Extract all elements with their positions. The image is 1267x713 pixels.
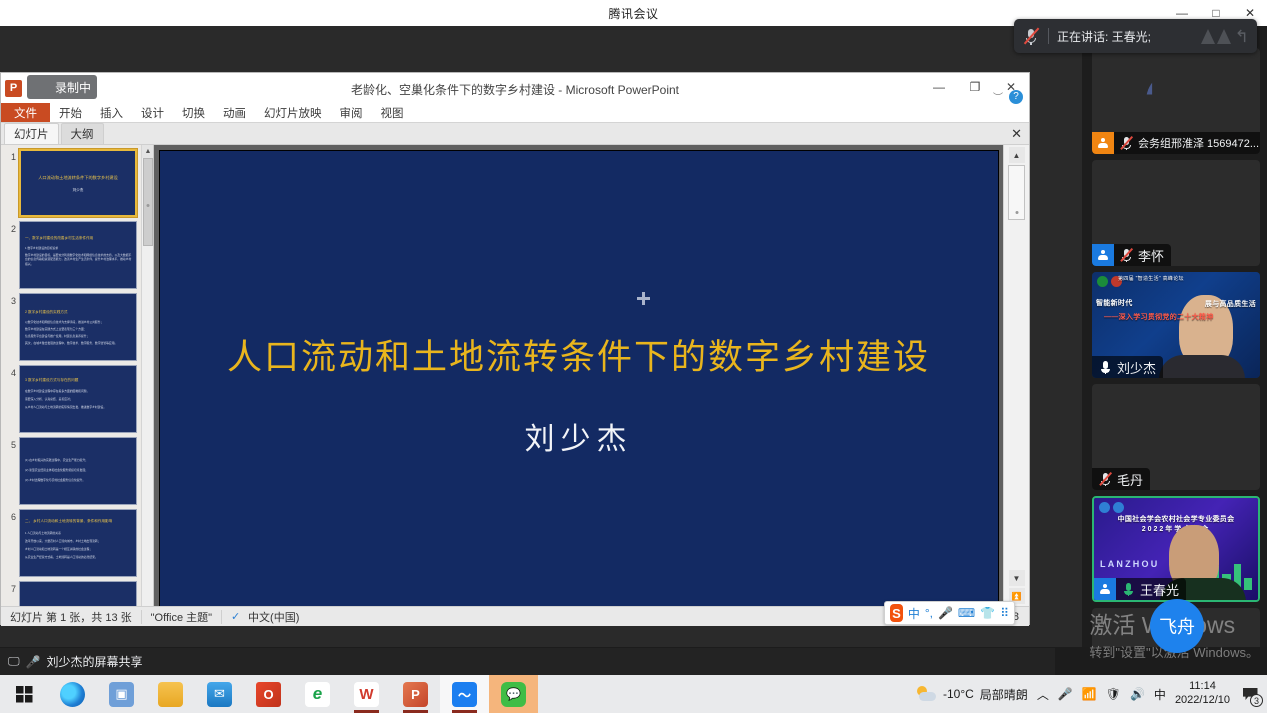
pane-tab-slides[interactable]: 幻灯片 <box>4 123 59 144</box>
thumbnail-slide-4[interactable]: 3 数字乡村建设方式与存在的问题 在数字乡村建设过程中存在着多方面的困难和问题，… <box>19 365 137 433</box>
thumb-title: 二、 乡村人口流动和土地流转的背景、条件和作用影响 <box>25 519 132 524</box>
office-icon: O <box>256 682 281 707</box>
thumb-title: 一、数字乡村建设的改善乡村生活条件作用 <box>25 236 132 241</box>
notification-count: 3 <box>1250 694 1263 707</box>
speaking-label: 正在讲话: 王春光; <box>1057 28 1151 45</box>
thumb-title: 3 数字乡村建设方式与存在的问题 <box>25 378 132 383</box>
powerpoint-window[interactable]: P 💾 ↶ ↷ ▾ 录制中 老龄化、空巢化条件下的数字乡村建设 - Micros… <box>0 72 1030 625</box>
thumb-line: (2) 新型农业经营主体和社会化服务组织培育发展； <box>25 468 132 472</box>
thumb-line: 1 数字乡村建设的目标追求 <box>25 246 132 250</box>
close-pane-icon[interactable]: ✕ <box>1011 126 1022 142</box>
ribbon-tab-insert[interactable]: 插入 <box>91 103 132 122</box>
wps-icon: W <box>354 682 379 707</box>
screen-share-bar: 🖵 🎤 刘少杰的屏幕共享 <box>0 648 1055 675</box>
slide-editing-area[interactable]: 人口流动和土地流转条件下的数字乡村建设 刘少杰 <box>154 145 1003 626</box>
participant-namebar: 李怀 <box>1092 244 1171 266</box>
skin-icon[interactable]: 👕 <box>980 606 995 620</box>
thumb-line: 乡村人口流动和土地流转是一个相互关联的社会过程； <box>25 547 132 551</box>
participant-badge-icon <box>1092 244 1114 266</box>
video-brand-text: LANZHOU <box>1100 559 1159 569</box>
thumb-line: 从农业生产经营方式看，土地流转是人口流动的必然结果。 <box>25 555 132 559</box>
person-body <box>1159 355 1245 378</box>
video-sub-text: ——深入学习贯彻党的二十大精神 <box>1104 312 1256 322</box>
show-hidden-icons-chevron[interactable]: ︿ <box>1037 686 1049 703</box>
thumb-line: 数字乡村建设在实践方式上主要表现为三个方面： <box>25 327 132 331</box>
participant-tile[interactable]: 第四届 "智造生活" 高峰论坛 智能新时代 展与高品质生活 ——深入学习贯彻党的… <box>1092 272 1260 378</box>
weather-widget[interactable]: -10°C 局部晴朗 <box>916 686 1028 703</box>
thumbnail-item[interactable]: 1 人口流动和土地流转条件下的数字乡村建设 刘少杰 <box>1 145 153 217</box>
taskbar-item-task-view[interactable]: ▣ <box>97 675 146 713</box>
taskbar-item-office[interactable]: O <box>244 675 293 713</box>
thumb-line: 改革开放以来，大量农村人口流向城市，乡村土地出现流转； <box>25 539 132 543</box>
thumb-line: (1) 在乡村振兴的实践过程中，农业生产能力提升； <box>25 458 132 462</box>
powerpoint-icon: P <box>403 682 428 707</box>
theme-status[interactable]: "Office 主题" <box>142 610 222 624</box>
scrollbar-thumb[interactable] <box>143 158 153 246</box>
host-badge-icon <box>1092 132 1114 154</box>
slide-vertical-scrollbar[interactable]: ▲ ▼ ⏫ ⏬ <box>1003 145 1029 626</box>
ime-indicator[interactable]: 中 <box>1154 686 1166 703</box>
participant-namebar: 会务组邢淮泽 1569472... <box>1092 132 1260 154</box>
speaking-toast: 正在讲话: 王春光; ↰ <box>1014 19 1257 53</box>
thumbnail-item[interactable]: 4 3 数字乡村建设方式与存在的问题 在数字乡村建设过程中存在着多方面的困难和问… <box>1 361 153 433</box>
weather-temperature: -10°C <box>943 687 974 701</box>
video-headline2-text: 展与高品质生活 <box>1205 299 1256 309</box>
participant-name: 王春光 <box>1140 580 1179 599</box>
slide-subtitle-text[interactable]: 刘少杰 <box>160 414 998 458</box>
meeting-title: 腾讯会议 <box>608 5 658 22</box>
participant-tile[interactable]: 李怀 <box>1092 160 1260 266</box>
weather-icon <box>916 686 937 702</box>
thumb-line: (3) 乡村治理数字化与农村社会服务信息化提升。 <box>25 478 132 482</box>
toast-divider <box>1048 28 1049 44</box>
thumb-line: 从乡村人口流动与土地流转的实际情况出发，推进数字乡村建设。 <box>25 405 132 409</box>
participant-tile[interactable]: 毛丹 <box>1092 384 1260 490</box>
powerpoint-app-icon: P <box>5 80 22 97</box>
taskbar-item-powerpoint[interactable]: P <box>391 675 440 713</box>
thumb-title: 人口流动和土地流转条件下的数字乡村建设 <box>21 175 135 181</box>
thumbnail-number: 7 <box>3 581 16 594</box>
internet-explorer-icon: e <box>305 682 330 707</box>
scrollbar-thumb[interactable] <box>1008 165 1025 220</box>
avatar <box>1146 407 1206 467</box>
ribbon-tab-design[interactable]: 设计 <box>132 103 173 122</box>
microphone-icon <box>1098 360 1113 375</box>
slide-pane-header: 幻灯片 大纲 ✕ <box>1 123 1029 145</box>
scroll-up-icon[interactable]: ▲ <box>1009 147 1025 163</box>
thumbnail-item[interactable]: 5 (1) 在乡村振兴的实践过程中，农业生产能力提升； (2) 新型农业经营主体… <box>1 433 153 505</box>
thumb-title: 2 数字乡村建设的实践方式 <box>25 310 132 315</box>
share-label: 刘少杰的屏幕共享 <box>47 653 143 670</box>
thumb-line: 其次，在城乡融合发展的过程中，数字技术、数字服务、数字监管等应用。 <box>25 341 132 345</box>
clock-time: 11:14 <box>1175 680 1230 694</box>
video-headline-text: 智能新时代 <box>1096 298 1133 308</box>
spellcheck-icon: ✓ <box>231 610 244 623</box>
slide-title-text[interactable]: 人口流动和土地流转条件下的数字乡村建设 <box>160 329 998 380</box>
participant-namebar: 王春光 <box>1094 578 1186 600</box>
ribbon-help-row: ︶ ? <box>993 89 1023 104</box>
participant-tile[interactable]: 会务组邢淮泽 1569472... <box>1092 48 1260 154</box>
notification-center-button[interactable]: 3 <box>1239 683 1261 705</box>
thumbnail-number: 3 <box>3 293 16 306</box>
taskbar-item-tencent-meeting[interactable]: 〜 <box>440 675 489 713</box>
participant-tile-active-speaker[interactable]: 中国社会学会农村社会学专业委员会 2022年学术年会 LANZHOU 王春光 <box>1092 496 1260 602</box>
scroll-down-icon[interactable]: ▼ <box>1009 570 1025 586</box>
wave-triangle-icon <box>1201 29 1215 44</box>
task-view-icon: ▣ <box>109 682 134 707</box>
thumbnail-number: 6 <box>3 509 16 522</box>
taskbar-item-wps[interactable]: W <box>342 675 391 713</box>
video-banner-text: 第四届 "智造生活" 高峰论坛 <box>1118 275 1260 282</box>
windows-logo-icon <box>16 686 33 703</box>
thumbnail-slide-6[interactable]: 二、 乡村人口流动和土地流转的背景、条件和作用影响 1 人口流动与土地流转的关系… <box>19 509 137 577</box>
participant-name: 毛丹 <box>1117 470 1143 489</box>
pane-tab-outline[interactable]: 大纲 <box>61 123 104 144</box>
thumbnail-item[interactable]: 2 一、数字乡村建设的改善乡村生活条件作用 1 数字乡村建设的目标追求 数字乡村… <box>1 217 153 289</box>
powerpoint-titlebar: P 💾 ↶ ↷ ▾ 录制中 老龄化、空巢化条件下的数字乡村建设 - Micros… <box>1 73 1029 103</box>
start-button[interactable] <box>0 675 48 713</box>
folder-icon <box>158 682 183 707</box>
slide-count-status: 幻灯片 第 1 张，共 13 张 <box>1 610 142 624</box>
ppt-minimize-button[interactable]: — <box>921 73 957 101</box>
ime-mode-chinese[interactable]: 中 <box>908 605 920 622</box>
mic-muted-icon <box>1022 27 1040 45</box>
microphone-icon[interactable]: 🎤 <box>938 606 953 620</box>
toolbox-icon[interactable]: ⠿ <box>1000 606 1009 620</box>
wifi-icon[interactable]: 📶 <box>1082 687 1097 701</box>
thumb-line: 以数字化技术和网络信息技术为支撑手段，推进乡村公共服务； <box>25 320 132 324</box>
thumbnail-number: 2 <box>3 221 16 234</box>
microphone-icon[interactable]: 🎤 <box>1058 687 1073 701</box>
wave-triangle-icon <box>1217 29 1231 44</box>
sogou-logo-icon[interactable]: S <box>890 604 903 622</box>
participant-name: 李怀 <box>1138 246 1164 265</box>
document-title: 老龄化、空巢化条件下的数字乡村建设 - Microsoft PowerPoint <box>1 81 1029 98</box>
mic-muted-icon <box>1119 248 1134 263</box>
clock-date: 2022/12/10 <box>1175 694 1230 708</box>
thumbnail-slide-1[interactable]: 人口流动和土地流转条件下的数字乡村建设 刘少杰 <box>19 149 137 217</box>
ribbon-tab-slideshow[interactable]: 幻灯片放映 <box>255 103 331 122</box>
thumbnail-slide-5[interactable]: (1) 在乡村振兴的实践过程中，农业生产能力提升； (2) 新型农业经营主体和社… <box>19 437 137 505</box>
participant-badge-icon <box>1094 578 1116 600</box>
avatar-circle: 飞舟 <box>1150 599 1204 653</box>
thumb-line: 1 人口流动与土地流转的关系 <box>25 531 132 535</box>
help-icon[interactable]: ? <box>1009 90 1023 104</box>
mail-icon: ✉ <box>207 682 232 707</box>
microphone-icon[interactable]: 🎤 <box>26 655 41 669</box>
mic-muted-icon <box>1098 472 1113 487</box>
taskbar-item-wechat[interactable]: 💬 <box>489 675 538 713</box>
windows-taskbar[interactable]: ▣ ✉ O e W P 〜 💬 -10°C 局部晴朗 ︿ 🎤 📶 🛡 🔊 中 1… <box>0 675 1267 713</box>
monitor-icon: 🖵 <box>8 654 20 669</box>
ribbon-tab-file[interactable]: 文件 <box>1 103 50 122</box>
current-slide[interactable]: 人口流动和土地流转条件下的数字乡村建设 刘少杰 <box>159 150 999 621</box>
ribbon-tab-animations[interactable]: 动画 <box>214 103 255 122</box>
recording-label: 录制中 <box>55 79 91 96</box>
thumb-line: 数字乡村建设的目标，是要充分利用数字化技术和网络信息技术的支持，以及大数据平台的… <box>25 253 132 266</box>
system-tray[interactable]: -10°C 局部晴朗 ︿ 🎤 📶 🛡 🔊 中 11:14 2022/12/10 … <box>916 675 1267 713</box>
keyboard-icon[interactable]: ⌨ <box>958 606 975 620</box>
thumbnail-item[interactable]: 3 2 数字乡村建设的实践方式 以数字化技术和网络信息技术为支撑手段，推进乡村公… <box>1 289 153 361</box>
thumbnail-number: 5 <box>3 437 16 450</box>
ribbon-tab-review[interactable]: 审阅 <box>331 103 372 122</box>
thumbnail-item[interactable]: 6 二、 乡村人口流动和土地流转的背景、条件和作用影响 1 人口流动与土地流转的… <box>1 505 153 577</box>
thumb-line: 信息服务平台建设与推广使用，村民信息素养提升； <box>25 334 132 338</box>
powerpoint-status-bar: 幻灯片 第 1 张，共 13 张 "Office 主题" ✓ 中文(中国) ▤ … <box>1 606 1029 626</box>
language-label: 中文(中国) <box>248 609 299 625</box>
video-line1-text: 中国社会学会农村社会学专业委员会 <box>1094 514 1258 524</box>
thumbnail-number: 1 <box>3 149 16 162</box>
mic-muted-icon <box>1119 136 1134 151</box>
thumbnail-slide-2[interactable]: 一、数字乡村建设的改善乡村生活条件作用 1 数字乡村建设的目标追求 数字乡村建设… <box>19 221 137 289</box>
taskbar-item-mail[interactable]: ✉ <box>195 675 244 713</box>
powerpoint-main-area: 1 人口流动和土地流转条件下的数字乡村建设 刘少杰 2 一、数字乡村建设的改善乡… <box>1 145 1029 626</box>
ime-punctuation-icon[interactable]: °, <box>925 606 933 620</box>
participant-name: 会务组邢淮泽 1569472... <box>1138 135 1259 151</box>
clock[interactable]: 11:14 2022/12/10 <box>1175 680 1230 708</box>
sogou-ime-toolbar[interactable]: S 中 °, 🎤 ⌨ 👕 ⠿ <box>884 601 1015 625</box>
tencent-meeting-icon: 〜 <box>452 682 477 707</box>
wechat-icon: 💬 <box>501 682 526 707</box>
edge-icon <box>60 682 85 707</box>
mouse-cursor <box>637 292 650 305</box>
avatar <box>1146 71 1206 131</box>
weather-description: 局部晴朗 <box>980 686 1028 703</box>
thumbnail-scrollbar[interactable]: ▲ <box>141 145 153 626</box>
participant-name: 刘少杰 <box>1117 358 1156 377</box>
thumb-subtitle: 刘少杰 <box>21 188 135 193</box>
ribbon-tabs[interactable]: 文件 开始 插入 设计 切换 动画 幻灯片放映 审阅 视图 <box>1 103 1029 123</box>
ribbon-tab-view[interactable]: 视图 <box>372 103 413 122</box>
thumb-line: 需要深入分析、认真总结、妥善应对； <box>25 397 132 401</box>
volume-icon[interactable]: 🔊 <box>1130 687 1145 701</box>
toast-wave-icons: ↰ <box>1201 28 1249 45</box>
video-logo-icons <box>1099 502 1124 513</box>
taskbar-item-file-explorer[interactable] <box>146 675 195 713</box>
recording-indicator: 录制中 <box>27 75 97 99</box>
thumbnail-slide-3[interactable]: 2 数字乡村建设的实践方式 以数字化技术和网络信息技术为支撑手段，推进乡村公共服… <box>19 293 137 361</box>
taskbar-item-edge[interactable] <box>48 675 97 713</box>
participant-video-strip[interactable]: 会务组邢淮泽 1569472... 李怀 第四届 "智造生活" 高峰论坛 <box>1082 26 1267 647</box>
back-arrow-icon[interactable]: ↰ <box>1235 28 1249 45</box>
language-status[interactable]: ✓ 中文(中国) <box>222 610 308 624</box>
security-icon[interactable]: 🛡 <box>1106 687 1121 701</box>
participant-namebar: 刘少杰 <box>1092 356 1163 378</box>
microphone-active-icon <box>1121 582 1136 597</box>
ppt-restore-button[interactable]: ❐ <box>957 73 993 101</box>
taskbar-item-internet-explorer[interactable]: e <box>293 675 342 713</box>
scroll-up-icon[interactable]: ▲ <box>142 145 154 158</box>
ribbon-tab-transitions[interactable]: 切换 <box>173 103 214 122</box>
avatar <box>1146 183 1206 243</box>
slide-thumbnail-pane[interactable]: 1 人口流动和土地流转条件下的数字乡村建设 刘少杰 2 一、数字乡村建设的改善乡… <box>1 145 154 626</box>
thumb-line: 在数字乡村建设过程中存在着多方面的困难和问题， <box>25 389 132 393</box>
participant-namebar: 毛丹 <box>1092 468 1150 490</box>
ribbon-tab-home[interactable]: 开始 <box>50 103 91 122</box>
thumbnail-number: 4 <box>3 365 16 378</box>
ribbon-collapse-icon[interactable]: ︶ <box>993 89 1003 104</box>
